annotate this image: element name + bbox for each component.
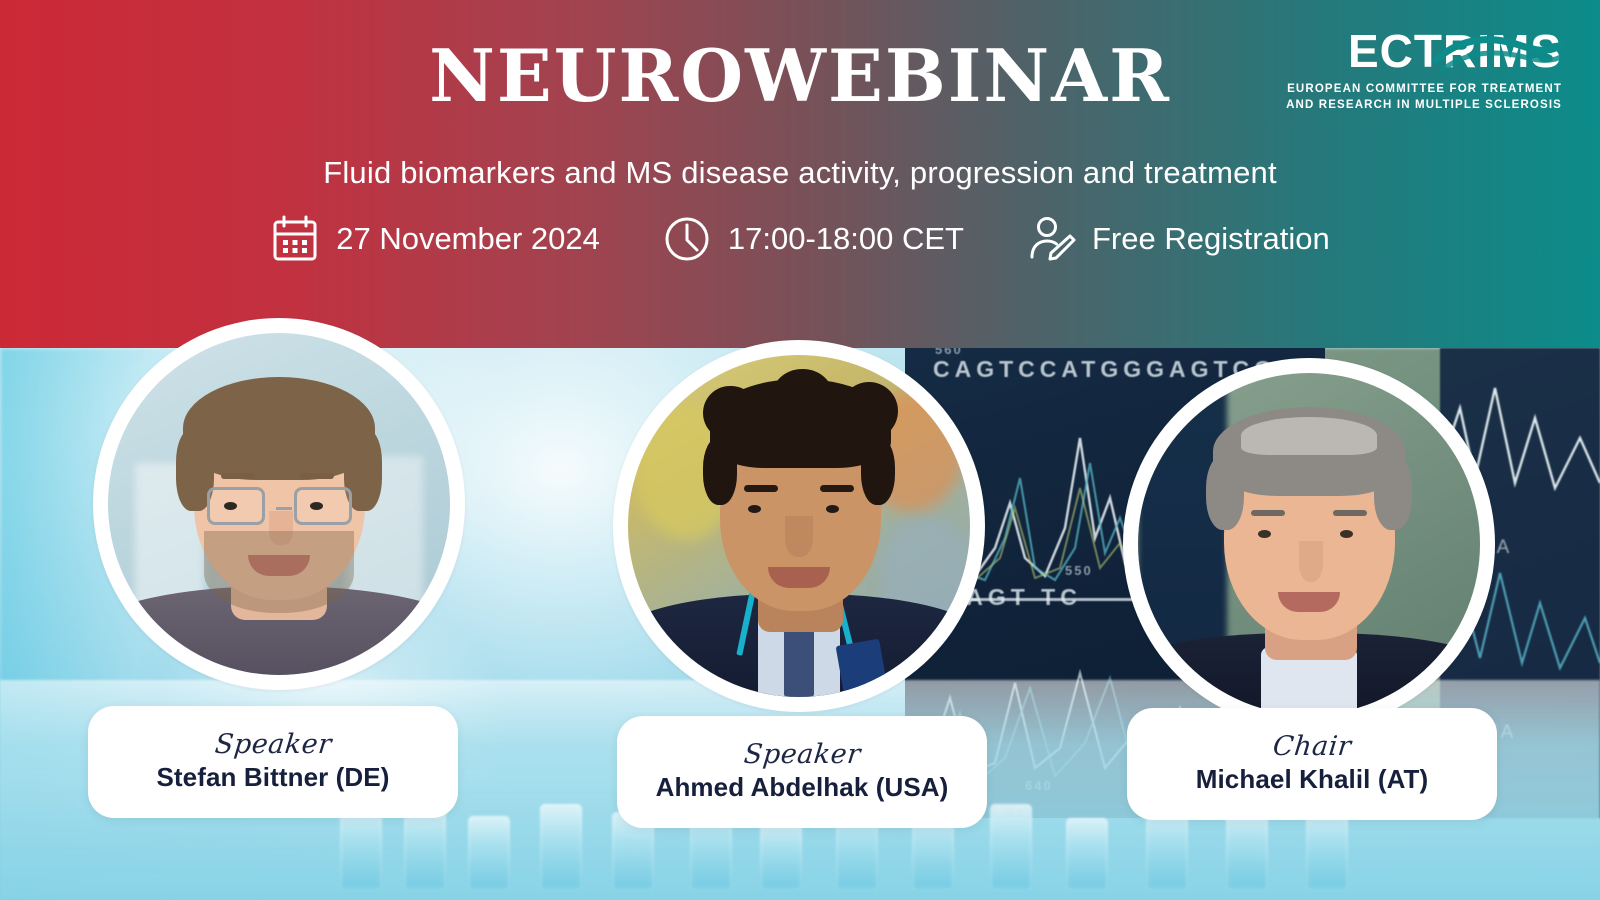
portrait-speaker-2 (613, 340, 985, 712)
clock-icon (662, 214, 712, 264)
calendar-icon (270, 214, 320, 264)
event-date-item: 27 November 2024 (270, 214, 600, 264)
event-time-text: 17:00-18:00 CET (728, 221, 964, 257)
person-name: Stefan Bittner (DE) (156, 762, 389, 793)
role-label: Chair (1271, 733, 1352, 761)
dna-position-label: 550 (1065, 563, 1093, 578)
event-date-text: 27 November 2024 (336, 221, 600, 257)
user-register-icon (1026, 214, 1076, 264)
header-band: ECTRIMS EUROPEAN COMMITTEE FOR TREATMENT… (0, 0, 1600, 348)
person-name: Michael Khalil (AT) (1196, 764, 1429, 795)
event-info-row: 27 November 2024 17:00-18:00 CET (0, 214, 1600, 264)
portrait-image-2 (628, 355, 970, 697)
role-label: Speaker (213, 731, 333, 759)
event-registration-item: Free Registration (1026, 214, 1330, 264)
webinar-poster: 560 CAGTCCATGGGAGTCGC 550 AAAGT TC 640 C… (0, 0, 1600, 900)
portrait-chair-3 (1123, 358, 1495, 730)
page-title: NEUROWEBINAR (0, 40, 1600, 112)
event-registration-text: Free Registration (1092, 221, 1330, 257)
event-time-item: 17:00-18:00 CET (662, 214, 964, 264)
page-subtitle: Fluid biomarkers and MS disease activity… (0, 155, 1600, 191)
name-card-speaker-2: Speaker Ahmed Abdelhak (USA) (617, 716, 987, 828)
portrait-image-3 (1138, 373, 1480, 715)
name-card-chair-3: Chair Michael Khalil (AT) (1127, 708, 1497, 820)
portrait-image-1 (108, 333, 450, 675)
person-name: Ahmed Abdelhak (USA) (656, 772, 949, 803)
portrait-speaker-1 (93, 318, 465, 690)
role-label: Speaker (742, 741, 862, 769)
name-card-speaker-1: Speaker Stefan Bittner (DE) (88, 706, 458, 818)
